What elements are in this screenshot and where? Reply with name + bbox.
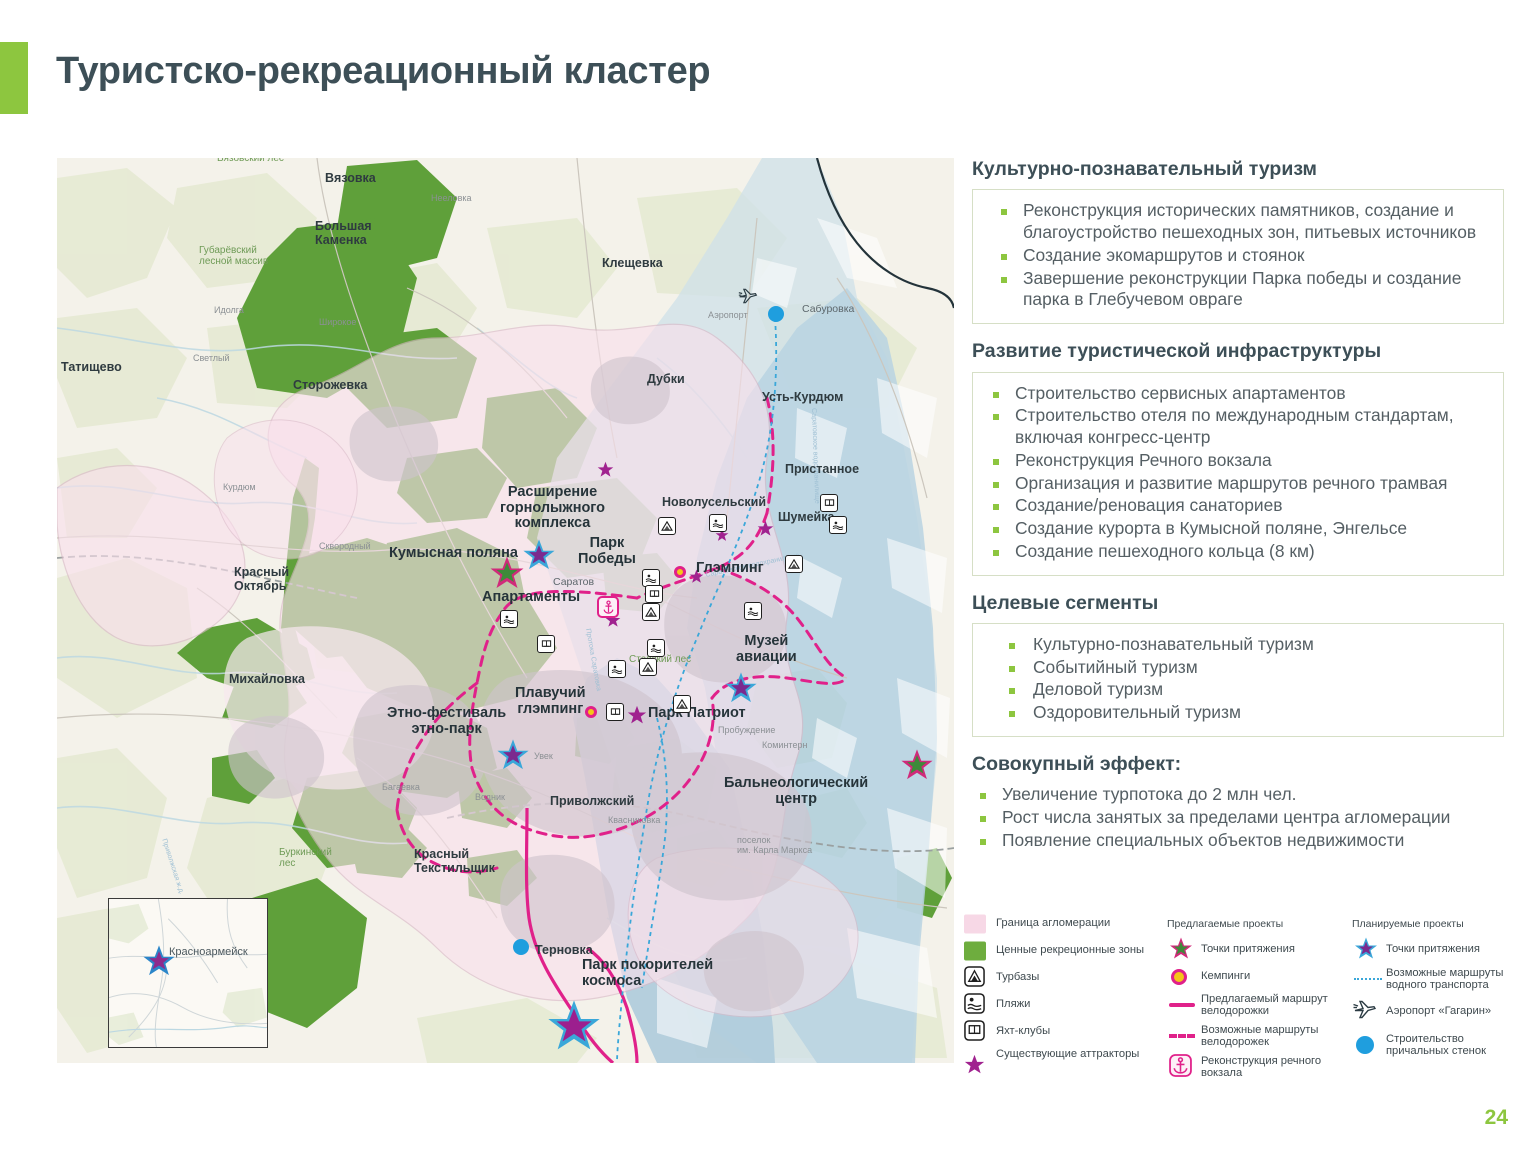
green-swatch-icon	[964, 941, 986, 960]
section-target-segments: Целевые сегменты Культурно-познавательны…	[972, 592, 1504, 737]
list-item: Оздоровительный туризм	[985, 702, 1491, 724]
section-heading: Развитие туристической инфраструктуры	[972, 340, 1504, 363]
pink-swatch-icon	[964, 914, 986, 933]
list-item: Культурно-познавательный туризм	[985, 634, 1491, 656]
bullet-list: Строительство сервисных апартаментов Стр…	[985, 383, 1491, 563]
blue-star-icon	[1354, 936, 1378, 963]
legend-column-title: Предлагаемые проекты	[1167, 918, 1347, 930]
yacht-club-icon	[964, 1020, 985, 1044]
list-item: Создание/реновация санаториев	[985, 495, 1491, 517]
legend-label: Возможные маршруты велодорожек	[1201, 1024, 1347, 1049]
yacht-club-icon[interactable]	[645, 585, 663, 603]
list-item: Событийный туризм	[985, 657, 1491, 679]
bullet-list: Увеличение турпотока до 2 млн чел. Рост …	[972, 784, 1504, 851]
legend-label: Строительство причальных стенок	[1386, 1033, 1527, 1058]
yacht-club-icon[interactable]	[537, 635, 555, 653]
map-marker-berth[interactable]	[513, 939, 529, 955]
map-marker-proposed-attractor[interactable]	[489, 555, 525, 591]
purple-star-icon	[964, 1054, 985, 1078]
map-inset-krasnoarmeysk[interactable]: Красноармейск	[108, 898, 268, 1048]
legend-label: Аэропорт «Гагарин»	[1386, 1005, 1491, 1017]
legend-item: Граница агломерации	[962, 913, 1162, 934]
map-marker-existing-attractor[interactable]	[627, 705, 647, 725]
legend-item: Возможные маршруты водного транспорта	[1352, 966, 1527, 992]
anchor-icon[interactable]	[597, 596, 619, 618]
list-item: Завершение реконструкции Парка победы и …	[985, 268, 1491, 312]
legend-item: Точки притяжения	[1167, 939, 1347, 960]
map-panel[interactable]: Вязовский лес Нееловка Губарёвскийлесной…	[57, 158, 954, 1063]
legend-item: Реконструкция речного вокзала	[1167, 1054, 1347, 1080]
solid-line-icon	[1169, 1003, 1195, 1007]
legend-column-planned: Планируемые проекты Возможные маршруты в…	[1352, 918, 1527, 1066]
map-marker-berth[interactable]	[768, 306, 784, 322]
legend-label: Яхт-клубы	[996, 1025, 1050, 1037]
beach-icon	[964, 993, 985, 1017]
tourbase-icon[interactable]	[639, 658, 657, 676]
legend-item: Турбазы	[962, 967, 1162, 988]
beach-icon[interactable]	[647, 639, 665, 657]
legend-label: Ценные рекреционные зоны	[996, 944, 1144, 956]
legend-item: Существующие аттракторы	[962, 1048, 1162, 1069]
section-cumulative-effect: Совокупный эффект: Увеличение турпотока …	[972, 753, 1504, 852]
title-accent-bar	[0, 42, 28, 114]
tourbase-icon[interactable]	[673, 695, 691, 713]
tourbase-icon[interactable]	[642, 603, 660, 621]
list-item: Строительство сервисных апартаментов	[985, 383, 1491, 405]
tourbase-icon[interactable]	[785, 555, 803, 573]
legend-label: Турбазы	[996, 971, 1039, 983]
legend-label: Существующие аттракторы	[996, 1048, 1139, 1060]
legend-item: Кемпинги	[1167, 966, 1347, 987]
map-marker-existing-attractor[interactable]	[757, 520, 774, 537]
beach-icon[interactable]	[709, 514, 727, 532]
section-box: Строительство сервисных апартаментов Стр…	[972, 372, 1504, 576]
legend-item: Пляжи	[962, 994, 1162, 1015]
legend-item: Возможные маршруты велодорожек	[1167, 1024, 1347, 1049]
list-item: Реконструкция Речного вокзала	[985, 450, 1491, 472]
map-marker-existing-attractor[interactable]	[689, 569, 704, 584]
legend-label: Граница агломерации	[996, 917, 1110, 929]
section-heading: Культурно-познавательный туризм	[972, 158, 1504, 181]
map-marker-proposed-attractor[interactable]	[900, 748, 934, 782]
list-item: Появление специальных объектов недвижимо…	[972, 830, 1504, 852]
map-marker-camping[interactable]	[585, 706, 597, 718]
list-item: Увеличение турпотока до 2 млн чел.	[972, 784, 1504, 806]
section-box: Культурно-познавательный туризм Событийн…	[972, 623, 1504, 737]
legend-item: Возможные маршруты водного транспорта То…	[1352, 939, 1527, 960]
beach-icon[interactable]	[829, 516, 847, 534]
beach-icon[interactable]	[500, 610, 518, 628]
beach-icon[interactable]	[608, 660, 626, 678]
legend-label: Предлагаемый маршрут велодорожки	[1201, 993, 1347, 1018]
anchor-icon	[1169, 1054, 1192, 1080]
legend-label: Реконструкция речного вокзала	[1201, 1055, 1347, 1080]
legend-label: Точки притяжения	[1386, 943, 1480, 955]
map-marker-planned-attractor[interactable]	[522, 538, 556, 572]
section-cultural-tourism: Культурно-познавательный туризм Реконстр…	[972, 158, 1504, 324]
map-marker-planned-attractor[interactable]	[724, 671, 758, 705]
magenta-star-icon	[1169, 936, 1193, 963]
legend-item: Аэропорт «Гагарин»	[1352, 998, 1527, 1024]
bullet-list: Культурно-познавательный туризм Событийн…	[985, 634, 1491, 724]
tourbase-icon[interactable]	[658, 517, 676, 535]
camping-dot-icon	[1171, 969, 1187, 985]
list-item: Строительство отеля по международным ста…	[985, 405, 1491, 449]
legend-label: Кемпинги	[1201, 970, 1250, 982]
map-marker-existing-attractor[interactable]	[597, 461, 614, 478]
section-box: Реконструкция исторических памятников, с…	[972, 189, 1504, 324]
bullet-list: Реконструкция исторических памятников, с…	[985, 200, 1491, 311]
list-item: Создание курорта в Кумысной поляне, Энге…	[985, 518, 1491, 540]
page-number: 24	[1485, 1106, 1508, 1130]
legend-item: Ценные рекреционные зоны	[962, 940, 1162, 961]
dotted-line-icon	[1354, 978, 1382, 980]
legend-item: Предлагаемый маршрут велодорожки	[1167, 993, 1347, 1018]
list-item: Реконструкция исторических памятников, с…	[985, 200, 1491, 244]
map-marker-camping[interactable]	[674, 566, 686, 578]
legend-column-proposed: Предлагаемые проекты Точки притяжения Ке…	[1167, 918, 1347, 1086]
beach-icon[interactable]	[744, 602, 762, 620]
map-legend: Граница агломерации Ценные рекреционные …	[962, 918, 1522, 1073]
legend-column-base: Граница агломерации Ценные рекреционные …	[962, 918, 1162, 1075]
legend-label: Точки притяжения	[1201, 943, 1295, 955]
yacht-club-icon[interactable]	[606, 703, 624, 721]
blue-dot-icon	[1356, 1036, 1374, 1054]
list-item: Организация и развитие маршрутов речного…	[985, 473, 1491, 495]
list-item: Создание пешеходного кольца (8 км)	[985, 541, 1491, 563]
page-title: Туристско-рекреационный кластер	[56, 50, 710, 93]
map-inset-marker-star[interactable]	[142, 944, 176, 978]
legend-item: Строительство причальных стенок	[1352, 1030, 1527, 1060]
section-heading: Целевые сегменты	[972, 592, 1504, 615]
yacht-club-icon[interactable]	[820, 494, 838, 512]
dashed-line-icon	[1169, 1034, 1195, 1038]
section-heading: Совокупный эффект:	[972, 753, 1504, 776]
legend-item: Яхт-клубы	[962, 1021, 1162, 1042]
map-marker-planned-attractor[interactable]	[496, 738, 530, 772]
airplane-icon	[737, 286, 759, 311]
legend-label: Возможные маршруты водного транспорта	[1386, 967, 1527, 992]
tourbase-icon	[964, 966, 985, 990]
list-item: Создание экомаршрутов и стоянок	[985, 245, 1491, 267]
map-marker-planned-attractor[interactable]	[546, 998, 602, 1054]
section-infrastructure: Развитие туристической инфраструктуры Ст…	[972, 340, 1504, 575]
list-item: Деловой туризм	[985, 679, 1491, 701]
legend-label: Пляжи	[996, 998, 1030, 1010]
content-column: Культурно-познавательный туризм Реконстр…	[972, 158, 1504, 853]
legend-column-title: Планируемые проекты	[1352, 918, 1527, 930]
list-item: Рост числа занятых за пределами центра а…	[972, 807, 1504, 829]
airplane-icon	[1352, 998, 1378, 1025]
